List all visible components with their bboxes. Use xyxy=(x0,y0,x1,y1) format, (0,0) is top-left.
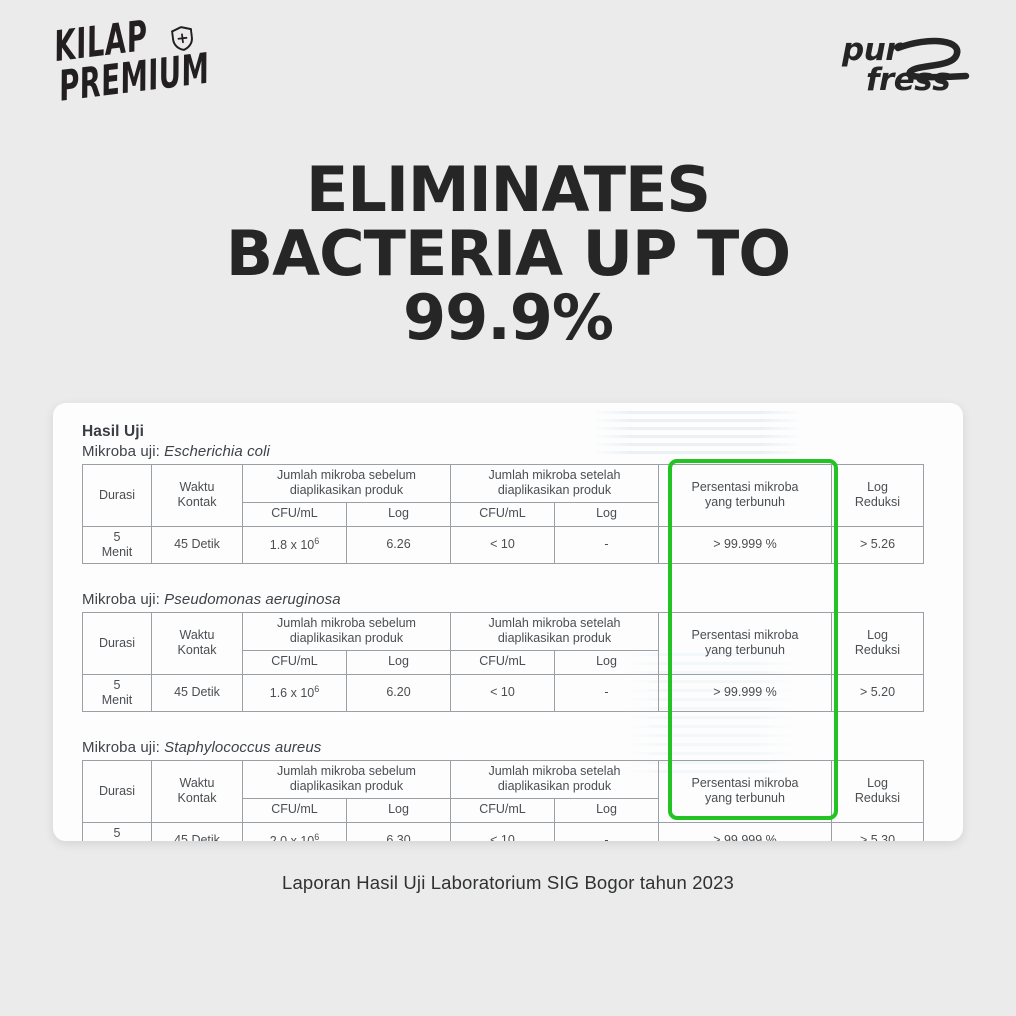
col-persentase-l2: yang terbunuh xyxy=(705,495,785,509)
col-sebelum-log: Log xyxy=(347,650,451,674)
col-waktu-kontak: Waktu Kontak xyxy=(152,613,243,675)
durasi-l1: 5 xyxy=(114,530,121,544)
organism-name-1: Escherichia coli xyxy=(164,443,270,460)
col-log-reduksi: Log Reduksi xyxy=(832,465,924,527)
col-sebelum-cfu: CFU/mL xyxy=(243,798,347,822)
col-persentase-l1: Persentasi mikroba xyxy=(692,628,799,642)
cell-setelah-log: - xyxy=(555,674,659,712)
organism-prefix-2: Mikroba uji: xyxy=(82,591,164,608)
col-persentase-l1: Persentasi mikroba xyxy=(692,776,799,790)
col-sebelum-l1: Jumlah mikroba sebelum xyxy=(277,764,416,778)
col-waktu-kontak: Waktu Kontak xyxy=(152,761,243,823)
col-waktu-kontak: Waktu Kontak xyxy=(152,465,243,527)
col-waktu-l2: Kontak xyxy=(178,791,217,805)
sebelum-cfu-exponent: 6 xyxy=(314,684,319,694)
purfress-logo: pur fress xyxy=(832,32,982,104)
col-durasi: Durasi xyxy=(83,761,152,823)
organism-label-2: Mikroba uji: Pseudomonas aeruginosa xyxy=(82,591,934,608)
col-reduksi-l2: Reduksi xyxy=(855,643,900,657)
col-setelah-l1: Jumlah mikroba setelah xyxy=(488,764,620,778)
col-waktu-l1: Waktu xyxy=(180,628,215,642)
col-setelah-l1: Jumlah mikroba setelah xyxy=(488,468,620,482)
col-sebelum-log: Log xyxy=(347,502,451,526)
cell-sebelum-log: 6.20 xyxy=(347,674,451,712)
col-setelah-l2: diaplikasikan produk xyxy=(498,483,611,497)
cell-setelah-log: - xyxy=(555,822,659,841)
col-reduksi-l2: Reduksi xyxy=(855,495,900,509)
col-durasi: Durasi xyxy=(83,465,152,527)
headline-line-1: ELIMINATES xyxy=(0,158,1016,222)
durasi-l2: Menit xyxy=(102,545,133,559)
headline-line-2: BACTERIA UP TO xyxy=(0,222,1016,286)
table-row: 5 Menit 45 Detik 2.0 x 106 6.30 < 10 - >… xyxy=(83,822,924,841)
table-header-row-group: Durasi Waktu Kontak Jumlah mikroba sebel… xyxy=(83,613,924,651)
organism-name-3: Staphylococcus aureus xyxy=(164,739,321,756)
col-group-setelah: Jumlah mikroba setelah diaplikasikan pro… xyxy=(451,613,659,651)
col-reduksi-l1: Log xyxy=(867,776,888,790)
col-group-setelah: Jumlah mikroba setelah diaplikasikan pro… xyxy=(451,761,659,799)
col-setelah-log: Log xyxy=(555,502,659,526)
cell-sebelum-log: 6.26 xyxy=(347,526,451,564)
table-row: 5 Menit 45 Detik 1.8 x 106 6.26 < 10 - >… xyxy=(83,526,924,564)
organism-label-1: Mikroba uji: Escherichia coli xyxy=(82,443,934,460)
col-setelah-l1: Jumlah mikroba setelah xyxy=(488,616,620,630)
col-sebelum-log: Log xyxy=(347,798,451,822)
table-spacer-1 xyxy=(82,564,934,591)
col-setelah-log: Log xyxy=(555,798,659,822)
col-sebelum-l2: diaplikasikan produk xyxy=(290,779,403,793)
col-setelah-cfu: CFU/mL xyxy=(451,502,555,526)
durasi-l1: 5 xyxy=(114,826,121,840)
col-setelah-cfu: CFU/mL xyxy=(451,650,555,674)
col-waktu-l1: Waktu xyxy=(180,776,215,790)
col-sebelum-l2: diaplikasikan produk xyxy=(290,483,403,497)
col-waktu-l1: Waktu xyxy=(180,480,215,494)
cell-waktu-kontak: 45 Detik xyxy=(152,526,243,564)
col-group-setelah: Jumlah mikroba setelah diaplikasikan pro… xyxy=(451,465,659,503)
source-caption: Laporan Hasil Uji Laboratorium SIG Bogor… xyxy=(0,872,1016,894)
col-setelah-l2: diaplikasikan produk xyxy=(498,631,611,645)
col-setelah-cfu: CFU/mL xyxy=(451,798,555,822)
kilap-premium-wordmark: KILAP PREMIUM xyxy=(52,9,216,94)
table-spacer-2 xyxy=(82,712,934,739)
organism-name-2: Pseudomonas aeruginosa xyxy=(164,591,341,608)
report-title: Hasil Uji xyxy=(82,423,934,441)
shield-check-icon xyxy=(171,25,195,52)
cell-sebelum-log: 6.30 xyxy=(347,822,451,841)
col-persentase-l1: Persentasi mikroba xyxy=(692,480,799,494)
sebelum-cfu-exponent: 6 xyxy=(314,832,319,841)
cell-setelah-cfu: < 10 xyxy=(451,822,555,841)
col-waktu-l2: Kontak xyxy=(178,495,217,509)
results-table-pseudomonas: Durasi Waktu Kontak Jumlah mikroba sebel… xyxy=(82,612,924,712)
col-persentase: Persentasi mikroba yang terbunuh xyxy=(659,613,832,675)
cell-log-reduksi: > 5.26 xyxy=(832,526,924,564)
col-reduksi-l1: Log xyxy=(867,480,888,494)
col-persentase: Persentasi mikroba yang terbunuh xyxy=(659,465,832,527)
cell-setelah-log: - xyxy=(555,526,659,564)
cell-durasi: 5 Menit xyxy=(83,674,152,712)
durasi-l2: Menit xyxy=(102,693,133,707)
col-setelah-l2: diaplikasikan produk xyxy=(498,779,611,793)
col-setelah-log: Log xyxy=(555,650,659,674)
sebelum-cfu-mantissa: 2.0 x 10 xyxy=(270,834,314,841)
sebelum-cfu-mantissa: 1.8 x 10 xyxy=(270,538,314,552)
cell-persentase: > 99.999 % xyxy=(659,526,832,564)
cell-durasi: 5 Menit xyxy=(83,526,152,564)
report-sheet: Hasil Uji Mikroba uji: Escherichia coli … xyxy=(82,423,934,841)
purfress-fress-text: fress xyxy=(866,62,950,98)
organism-label-3: Mikroba uji: Staphylococcus aureus xyxy=(82,739,934,756)
col-sebelum-l2: diaplikasikan produk xyxy=(290,631,403,645)
col-reduksi-l2: Reduksi xyxy=(855,791,900,805)
cell-durasi: 5 Menit xyxy=(83,822,152,841)
cell-persentase: > 99.999 % xyxy=(659,822,832,841)
col-persentase-l2: yang terbunuh xyxy=(705,643,785,657)
col-sebelum-cfu: CFU/mL xyxy=(243,650,347,674)
headline: ELIMINATES BACTERIA UP TO 99.9% xyxy=(0,158,1016,350)
durasi-l1: 5 xyxy=(114,678,121,692)
col-group-sebelum: Jumlah mikroba sebelum diaplikasikan pro… xyxy=(243,465,451,503)
table-header-row-group: Durasi Waktu Kontak Jumlah mikroba sebel… xyxy=(83,761,924,799)
cell-log-reduksi: > 5.20 xyxy=(832,674,924,712)
col-group-sebelum: Jumlah mikroba sebelum diaplikasikan pro… xyxy=(243,761,451,799)
sebelum-cfu-mantissa: 1.6 x 10 xyxy=(270,686,314,700)
table-row: 5 Menit 45 Detik 1.6 x 106 6.20 < 10 - >… xyxy=(83,674,924,712)
col-log-reduksi: Log Reduksi xyxy=(832,761,924,823)
cell-setelah-cfu: < 10 xyxy=(451,674,555,712)
results-table-ecoli: Durasi Waktu Kontak Jumlah mikroba sebel… xyxy=(82,464,924,564)
cell-waktu-kontak: 45 Detik xyxy=(152,822,243,841)
col-waktu-l2: Kontak xyxy=(178,643,217,657)
col-sebelum-l1: Jumlah mikroba sebelum xyxy=(277,468,416,482)
cell-sebelum-cfu: 2.0 x 106 xyxy=(243,822,347,841)
cell-waktu-kontak: 45 Detik xyxy=(152,674,243,712)
cell-sebelum-cfu: 1.6 x 106 xyxy=(243,674,347,712)
results-table-staphylococcus: Durasi Waktu Kontak Jumlah mikroba sebel… xyxy=(82,760,924,841)
lab-report-card: Hasil Uji Mikroba uji: Escherichia coli … xyxy=(53,403,963,841)
col-group-sebelum: Jumlah mikroba sebelum diaplikasikan pro… xyxy=(243,613,451,651)
cell-persentase: > 99.999 % xyxy=(659,674,832,712)
cell-log-reduksi: > 5.30 xyxy=(832,822,924,841)
col-persentase-l2: yang terbunuh xyxy=(705,791,785,805)
col-persentase: Persentasi mikroba yang terbunuh xyxy=(659,761,832,823)
table-header-row-group: Durasi Waktu Kontak Jumlah mikroba sebel… xyxy=(83,465,924,503)
organism-prefix-3: Mikroba uji: xyxy=(82,739,164,756)
headline-line-3: 99.9% xyxy=(0,286,1016,350)
kilap-premium-logo: KILAP PREMIUM xyxy=(44,22,214,112)
sebelum-cfu-exponent: 6 xyxy=(314,536,319,546)
col-sebelum-cfu: CFU/mL xyxy=(243,502,347,526)
col-reduksi-l1: Log xyxy=(867,628,888,642)
organism-prefix-1: Mikroba uji: xyxy=(82,443,164,460)
col-durasi: Durasi xyxy=(83,613,152,675)
cell-setelah-cfu: < 10 xyxy=(451,526,555,564)
col-log-reduksi: Log Reduksi xyxy=(832,613,924,675)
col-sebelum-l1: Jumlah mikroba sebelum xyxy=(277,616,416,630)
cell-sebelum-cfu: 1.8 x 106 xyxy=(243,526,347,564)
